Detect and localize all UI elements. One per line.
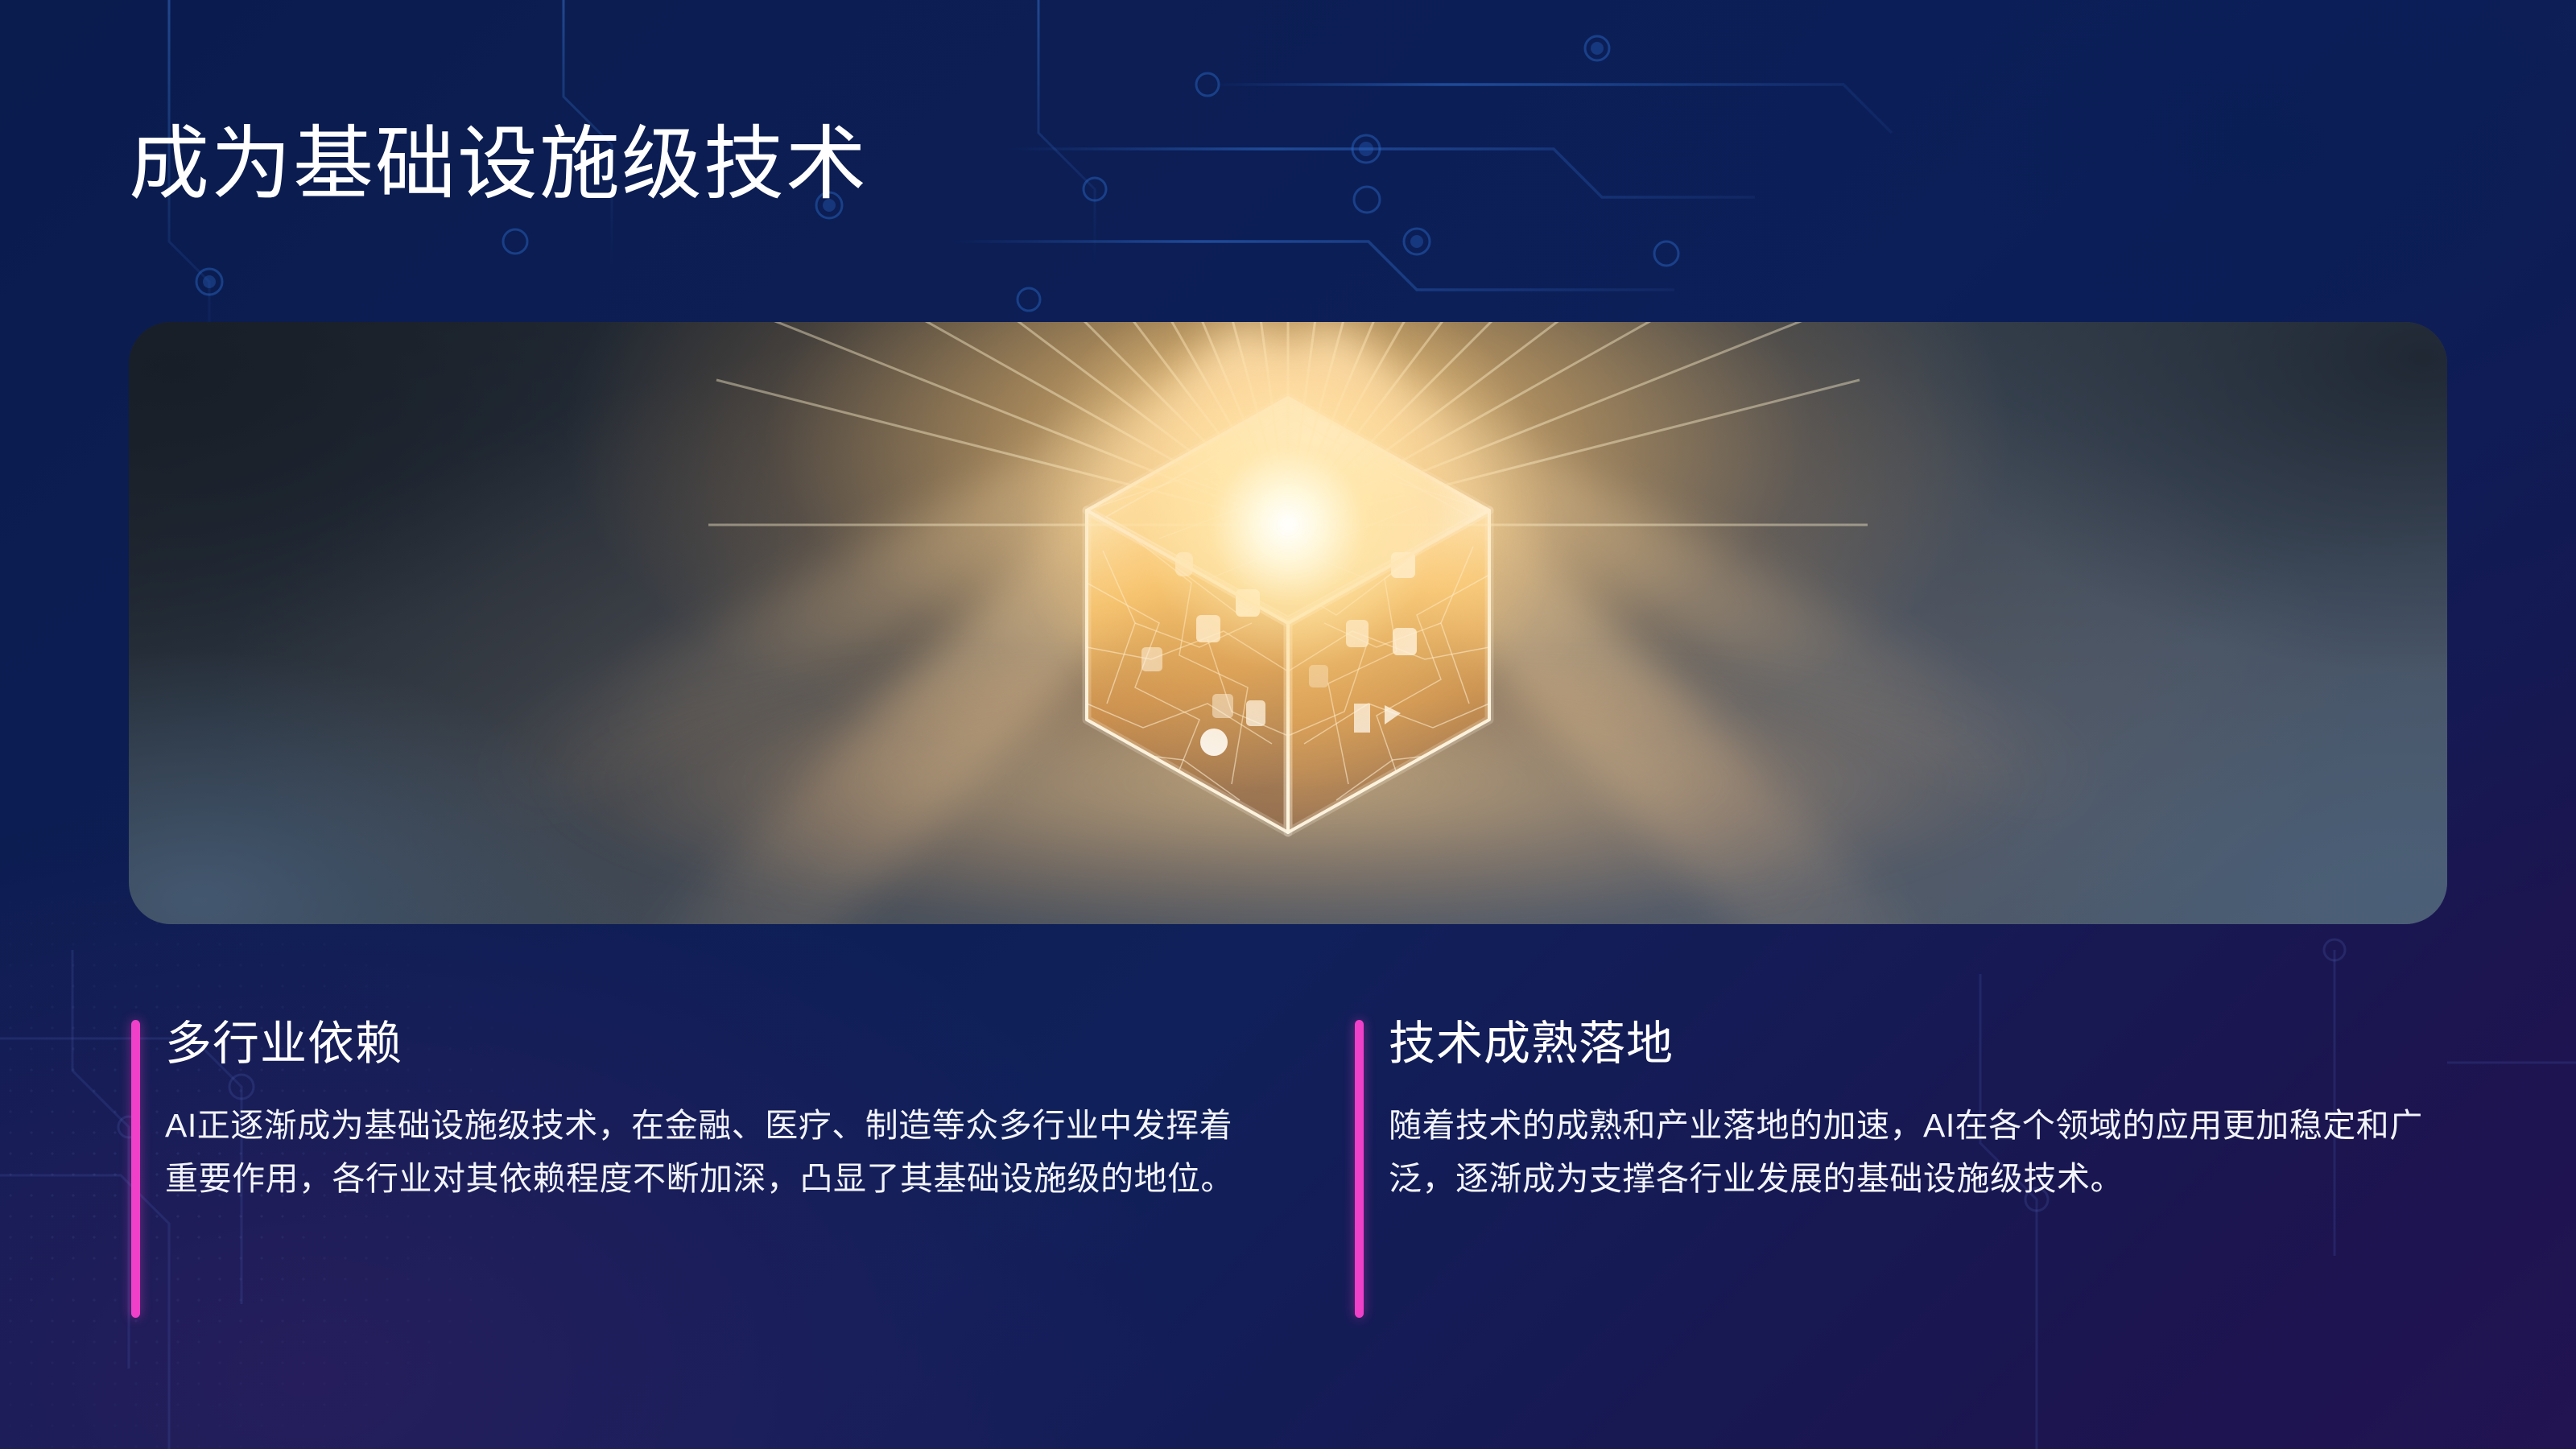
slide-root: 成为基础设施级技术 bbox=[0, 0, 2576, 1449]
column-right-body: 随着技术的成熟和产业落地的加速，AI在各个领域的应用更加稳定和广泛，逐渐成为支撑… bbox=[1389, 1099, 2459, 1206]
info-column-right: 技术成熟落地 随着技术的成熟和产业落地的加速，AI在各个领域的应用更加稳定和广泛… bbox=[1355, 1018, 2482, 1206]
page-title: 成为基础设施级技术 bbox=[129, 119, 868, 209]
accent-bar-left bbox=[131, 1020, 140, 1318]
column-right-heading: 技术成熟落地 bbox=[1389, 1018, 2482, 1070]
accent-bar-right bbox=[1355, 1020, 1364, 1318]
info-column-left: 多行业依赖 AI正逐渐成为基础设施级技术，在金融、医疗、制造等众多行业中发挥着重… bbox=[131, 1018, 1258, 1206]
column-left-body: AI正逐渐成为基础设施级技术，在金融、医疗、制造等众多行业中发挥着重要作用，各行… bbox=[165, 1099, 1236, 1206]
column-left-heading: 多行业依赖 bbox=[165, 1018, 1258, 1070]
hero-image-panel bbox=[129, 322, 2447, 924]
glowing-cube-icon bbox=[1038, 382, 1538, 865]
